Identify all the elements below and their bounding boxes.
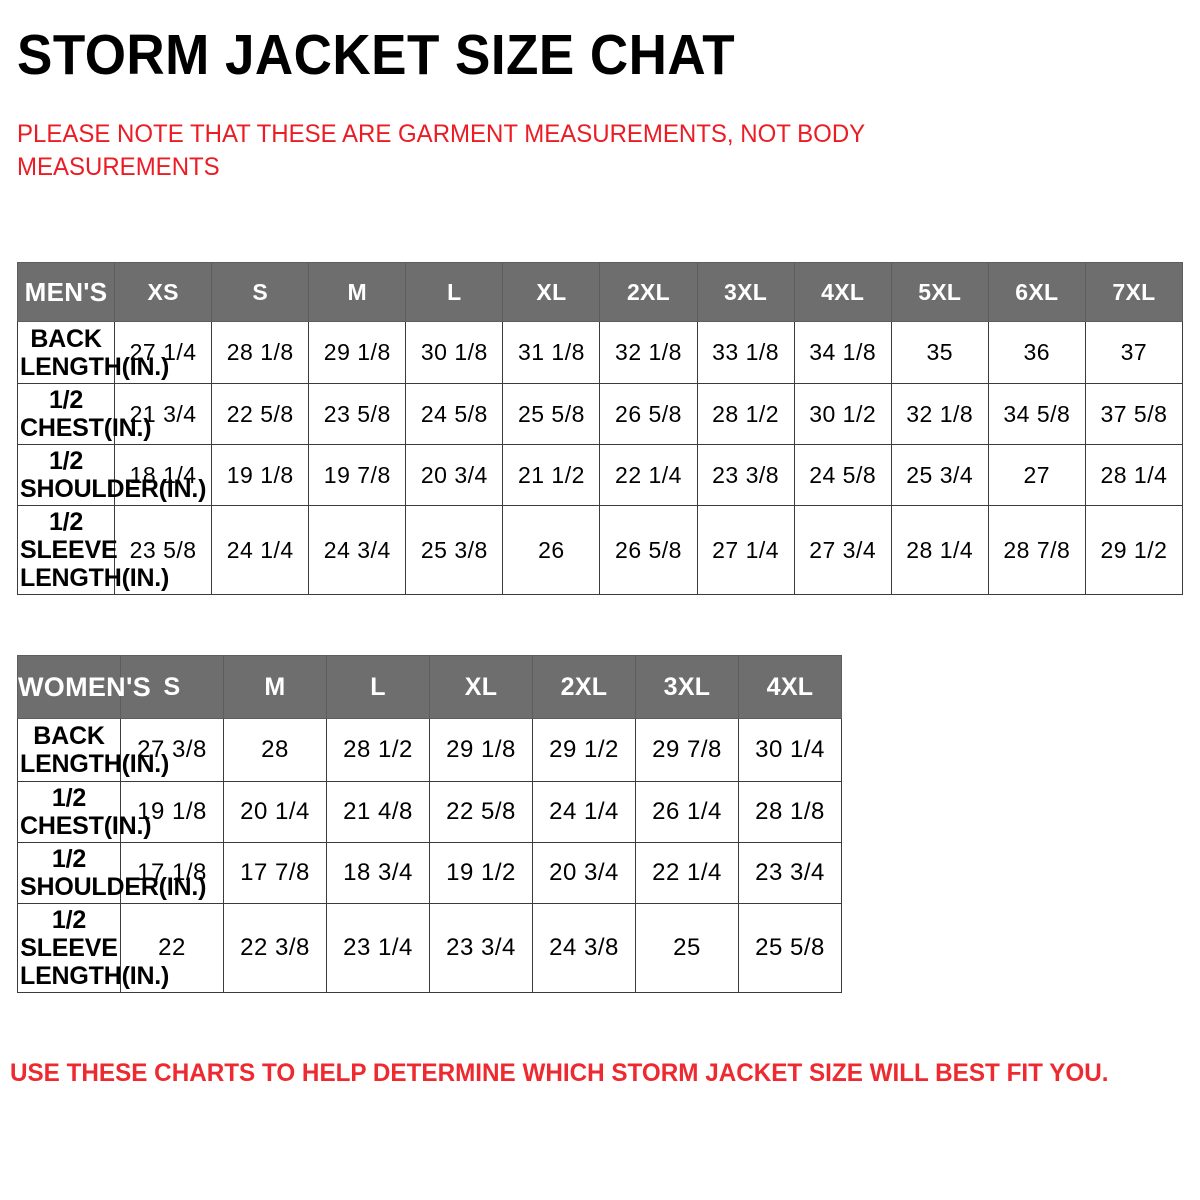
cell-value: 25 3/4 xyxy=(891,445,988,506)
cell-value: 26 xyxy=(503,506,600,595)
cell-value: 21 4/8 xyxy=(327,782,430,843)
cell-value: 37 5/8 xyxy=(1085,384,1182,445)
row-label-half-sleeve-length: 1/2 SLEEVE LENGTH(IN.) xyxy=(18,904,121,993)
cell-value: 20 3/4 xyxy=(406,445,503,506)
cell-value: 25 3/8 xyxy=(406,506,503,595)
table-row: 1/2 SLEEVE LENGTH(IN.) 22 22 3/8 23 1/4 … xyxy=(18,904,842,993)
mens-table-body: BACK LENGTH(IN.) 27 1/4 28 1/8 29 1/8 30… xyxy=(18,322,1183,595)
cell-value: 22 1/4 xyxy=(636,843,739,904)
cell-value: 23 3/4 xyxy=(739,843,842,904)
column-header-l: L xyxy=(327,656,430,719)
cell-value: 28 1/4 xyxy=(1085,445,1182,506)
cell-value: 27 1/4 xyxy=(697,506,794,595)
row-label-line: BACK xyxy=(20,325,112,353)
column-header-7xl: 7XL xyxy=(1085,263,1182,322)
womens-table-header: WOMEN'S S M L XL 2XL 3XL 4XL xyxy=(18,656,842,719)
cell-value: 23 3/4 xyxy=(430,904,533,993)
table-header-row: WOMEN'S S M L XL 2XL 3XL 4XL xyxy=(18,656,842,719)
row-label-line: LENGTH(IN.) xyxy=(20,564,112,592)
mens-size-table: MEN'S XS S M L XL 2XL 3XL 4XL 5XL 6XL 7X… xyxy=(17,262,1183,595)
cell-value: 26 5/8 xyxy=(600,384,697,445)
cell-value: 28 1/2 xyxy=(697,384,794,445)
row-label-half-shoulder: 1/2 SHOULDER(IN.) xyxy=(18,843,121,904)
cell-value: 24 5/8 xyxy=(794,445,891,506)
footer-help-note: USE THESE CHARTS TO HELP DETERMINE WHICH… xyxy=(10,1058,1155,1088)
cell-value: 37 xyxy=(1085,322,1182,384)
cell-value: 29 1/2 xyxy=(1085,506,1182,595)
cell-value: 28 7/8 xyxy=(988,506,1085,595)
womens-size-table: WOMEN'S S M L XL 2XL 3XL 4XL BACK LENGTH… xyxy=(17,655,842,993)
cell-value: 31 1/8 xyxy=(503,322,600,384)
column-header-4xl: 4XL xyxy=(794,263,891,322)
row-label-half-chest: 1/2 CHEST(IN.) xyxy=(18,782,121,843)
cell-value: 23 3/8 xyxy=(697,445,794,506)
cell-value: 23 1/4 xyxy=(327,904,430,993)
column-header-6xl: 6XL xyxy=(988,263,1085,322)
table-row: BACK LENGTH(IN.) 27 3/8 28 28 1/2 29 1/8… xyxy=(18,719,842,782)
row-label-half-shoulder: 1/2 SHOULDER(IN.) xyxy=(18,445,115,506)
row-label-line: LENGTH(IN.) xyxy=(20,353,112,381)
cell-value: 26 1/4 xyxy=(636,782,739,843)
column-header-4xl: 4XL xyxy=(739,656,842,719)
cell-value: 34 5/8 xyxy=(988,384,1085,445)
column-header-2xl: 2XL xyxy=(600,263,697,322)
cell-value: 25 5/8 xyxy=(503,384,600,445)
cell-value: 24 3/4 xyxy=(309,506,406,595)
row-label-back-length: BACK LENGTH(IN.) xyxy=(18,719,121,782)
column-header-5xl: 5XL xyxy=(891,263,988,322)
column-header-3xl: 3XL xyxy=(697,263,794,322)
cell-value: 26 5/8 xyxy=(600,506,697,595)
cell-value: 22 1/4 xyxy=(600,445,697,506)
cell-value: 29 7/8 xyxy=(636,719,739,782)
table-header-row: MEN'S XS S M L XL 2XL 3XL 4XL 5XL 6XL 7X… xyxy=(18,263,1183,322)
column-header-xl: XL xyxy=(503,263,600,322)
column-header-l: L xyxy=(406,263,503,322)
cell-value: 33 1/8 xyxy=(697,322,794,384)
cell-value: 28 xyxy=(224,719,327,782)
cell-value: 30 1/2 xyxy=(794,384,891,445)
cell-value: 18 3/4 xyxy=(327,843,430,904)
row-label-line: LENGTH(IN.) xyxy=(20,750,118,778)
mens-table-title: MEN'S xyxy=(18,263,115,322)
row-label-line: LENGTH(IN.) xyxy=(20,962,118,990)
table-row: 1/2 CHEST(IN.) 21 3/4 22 5/8 23 5/8 24 5… xyxy=(18,384,1183,445)
cell-value: 28 1/8 xyxy=(739,782,842,843)
cell-value: 23 5/8 xyxy=(309,384,406,445)
cell-value: 24 3/8 xyxy=(533,904,636,993)
size-chart-page: STORM JACKET SIZE CHAT PLEASE NOTE THAT … xyxy=(0,0,1200,1200)
cell-value: 29 1/8 xyxy=(430,719,533,782)
cell-value: 28 1/2 xyxy=(327,719,430,782)
cell-value: 22 5/8 xyxy=(430,782,533,843)
row-label-half-sleeve-length: 1/2 SLEEVE LENGTH(IN.) xyxy=(18,506,115,595)
cell-value: 20 1/4 xyxy=(224,782,327,843)
row-label-line: 1/2 CHEST(IN.) xyxy=(20,386,112,442)
column-header-3xl: 3XL xyxy=(636,656,739,719)
column-header-xl: XL xyxy=(430,656,533,719)
row-label-half-chest: 1/2 CHEST(IN.) xyxy=(18,384,115,445)
cell-value: 17 7/8 xyxy=(224,843,327,904)
cell-value: 25 5/8 xyxy=(739,904,842,993)
cell-value: 24 5/8 xyxy=(406,384,503,445)
column-header-xs: XS xyxy=(115,263,212,322)
column-header-m: M xyxy=(224,656,327,719)
column-header-m: M xyxy=(309,263,406,322)
row-label-line: 1/2 SLEEVE xyxy=(20,508,112,564)
table-row: 1/2 CHEST(IN.) 19 1/8 20 1/4 21 4/8 22 5… xyxy=(18,782,842,843)
cell-value: 24 1/4 xyxy=(533,782,636,843)
cell-value: 24 1/4 xyxy=(212,506,309,595)
cell-value: 21 1/2 xyxy=(503,445,600,506)
cell-value: 29 1/8 xyxy=(309,322,406,384)
page-title: STORM JACKET SIZE CHAT xyxy=(17,24,735,86)
cell-value: 22 5/8 xyxy=(212,384,309,445)
row-label-line: BACK xyxy=(20,722,118,750)
cell-value: 27 3/4 xyxy=(794,506,891,595)
womens-table-body: BACK LENGTH(IN.) 27 3/8 28 28 1/2 29 1/8… xyxy=(18,719,842,993)
womens-table-title: WOMEN'S xyxy=(18,656,121,719)
cell-value: 19 1/8 xyxy=(212,445,309,506)
table-row: 1/2 SHOULDER(IN.) 18 1/4 19 1/8 19 7/8 2… xyxy=(18,445,1183,506)
cell-value: 19 7/8 xyxy=(309,445,406,506)
table-row: 1/2 SHOULDER(IN.) 17 1/8 17 7/8 18 3/4 1… xyxy=(18,843,842,904)
table-row: 1/2 SLEEVE LENGTH(IN.) 23 5/8 24 1/4 24 … xyxy=(18,506,1183,595)
cell-value: 32 1/8 xyxy=(891,384,988,445)
cell-value: 28 1/4 xyxy=(891,506,988,595)
cell-value: 20 3/4 xyxy=(533,843,636,904)
cell-value: 30 1/8 xyxy=(406,322,503,384)
table-row: BACK LENGTH(IN.) 27 1/4 28 1/8 29 1/8 30… xyxy=(18,322,1183,384)
cell-value: 35 xyxy=(891,322,988,384)
column-header-2xl: 2XL xyxy=(533,656,636,719)
mens-table-header: MEN'S XS S M L XL 2XL 3XL 4XL 5XL 6XL 7X… xyxy=(18,263,1183,322)
cell-value: 27 xyxy=(988,445,1085,506)
row-label-line: 1/2 CHEST(IN.) xyxy=(20,784,118,840)
column-header-s: S xyxy=(212,263,309,322)
cell-value: 36 xyxy=(988,322,1085,384)
row-label-line: 1/2 SHOULDER(IN.) xyxy=(20,845,118,901)
cell-value: 30 1/4 xyxy=(739,719,842,782)
cell-value: 29 1/2 xyxy=(533,719,636,782)
row-label-back-length: BACK LENGTH(IN.) xyxy=(18,322,115,384)
row-label-line: 1/2 SLEEVE xyxy=(20,906,118,962)
cell-value: 32 1/8 xyxy=(600,322,697,384)
row-label-line: 1/2 SHOULDER(IN.) xyxy=(20,447,112,503)
cell-value: 22 3/8 xyxy=(224,904,327,993)
cell-value: 25 xyxy=(636,904,739,993)
garment-measurement-note: PLEASE NOTE THAT THESE ARE GARMENT MEASU… xyxy=(17,118,939,184)
cell-value: 28 1/8 xyxy=(212,322,309,384)
cell-value: 34 1/8 xyxy=(794,322,891,384)
cell-value: 19 1/2 xyxy=(430,843,533,904)
